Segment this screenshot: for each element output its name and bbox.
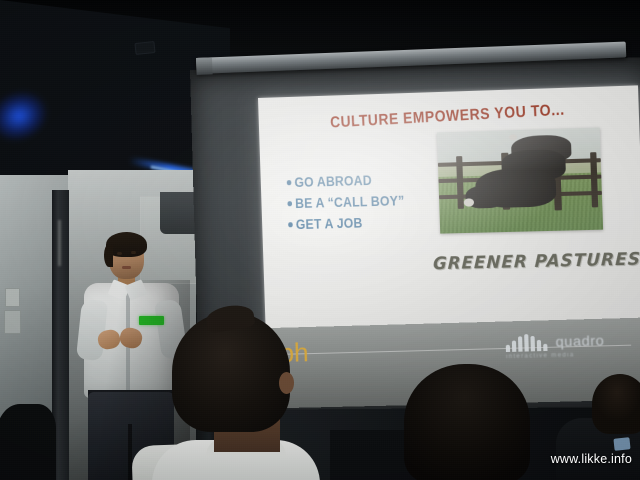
watermark: www.likke.info: [551, 452, 632, 466]
presenter-hair-side: [104, 245, 113, 267]
bullet-label: GET A JOB: [296, 215, 363, 232]
audience-member-right-hair: [592, 374, 640, 434]
bullet-dot-icon: [287, 180, 291, 185]
presenter-mouth: [122, 266, 131, 269]
presenter-eye-right: [131, 251, 136, 254]
foreground-silhouette-left: [0, 404, 56, 480]
slide-photo-cows: [437, 128, 603, 234]
sponsor-logo-right-subtext: interactive media: [506, 352, 575, 360]
bullet-label: BE A “CALL BOY”: [295, 193, 405, 211]
audience-hair: [172, 312, 290, 432]
power-outlet-plate[interactable]: [4, 310, 21, 334]
bullet-dot-icon: [287, 201, 291, 206]
presentation-slide: CULTURE EMPOWERS YOU TO... GO ABROAD BE …: [258, 85, 640, 348]
arch-bridge-icon: [505, 332, 551, 352]
sponsor-logo-right-text: quadro: [555, 332, 604, 350]
bullet-label: GO ABROAD: [294, 173, 372, 190]
list-item: GET A JOB: [288, 213, 452, 232]
photo-scene: CULTURE EMPOWERS YOU TO... GO ABROAD BE …: [0, 0, 640, 480]
list-item: GO ABROAD: [287, 171, 451, 191]
photo-projection-haze: [437, 128, 603, 234]
slide-caption: GREENER PASTURES?: [433, 249, 632, 274]
sponsor-logo-right: quadro: [505, 331, 604, 352]
bullet-dot-icon: [288, 222, 292, 227]
screen-roller-cap: [196, 57, 213, 75]
light-switch-plate[interactable]: [5, 288, 20, 307]
presenter-name-badge: [139, 316, 164, 325]
audience-member-long-hair: [404, 364, 530, 480]
list-item: BE A “CALL BOY”: [287, 192, 451, 211]
pillar-highlight: [58, 220, 61, 266]
ceiling-vent: [134, 41, 155, 55]
presenter-eye-left: [117, 252, 122, 255]
audience-shirt-logo: [613, 437, 630, 451]
audience-ear: [279, 372, 294, 394]
